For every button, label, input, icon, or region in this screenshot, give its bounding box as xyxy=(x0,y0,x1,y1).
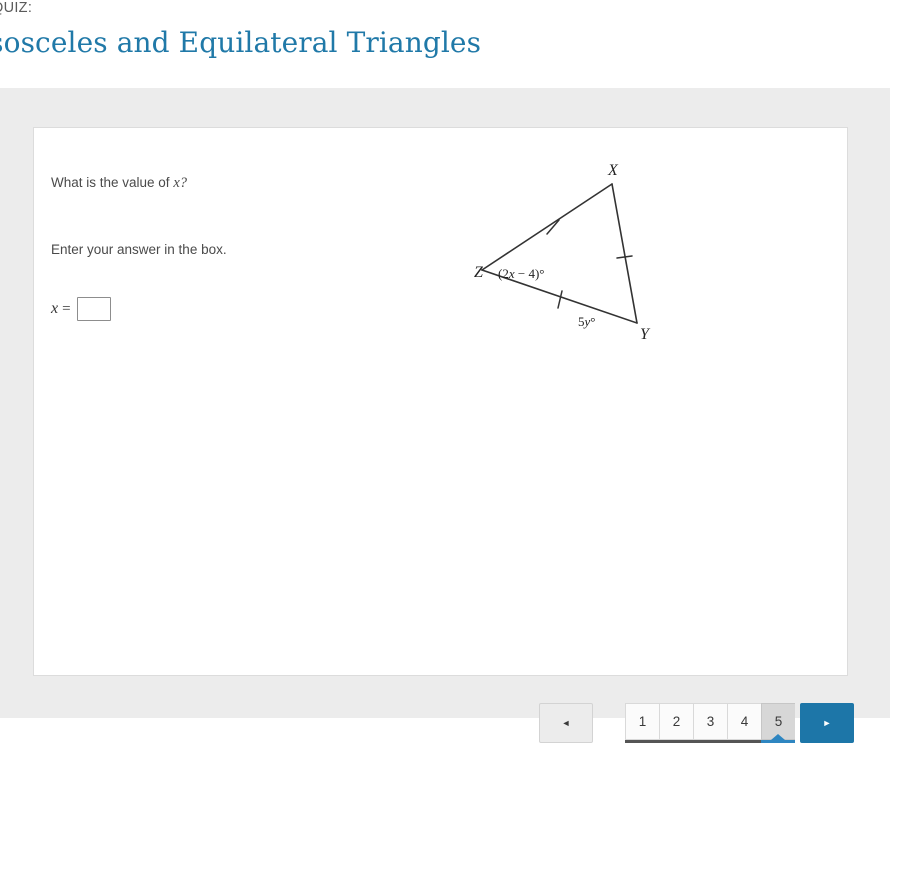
triangle-left-icon: ◄ xyxy=(562,718,571,728)
triangle-right-icon: ► xyxy=(823,718,832,728)
triangle-side-zx xyxy=(482,184,612,270)
active-page-indicator xyxy=(761,740,795,743)
answer-equals-sign: = xyxy=(62,301,70,318)
question-prompt-prefix: What is the value of xyxy=(51,175,173,190)
question-prompt: What is the value of x? xyxy=(51,175,187,192)
page-title: Isosceles and Equilateral Triangles xyxy=(0,26,481,59)
angle-label-z: (2x − 4)° xyxy=(498,266,544,281)
angle-label-y-suffix: ° xyxy=(590,314,595,329)
question-card: What is the value of x? Enter your answe… xyxy=(33,127,848,676)
answer-instruction: Enter your answer in the box. xyxy=(51,242,227,257)
congruence-tick-marks xyxy=(547,220,632,308)
answer-input[interactable] xyxy=(77,297,111,321)
question-prompt-suffix: ? xyxy=(180,175,187,191)
triangle-side-xy xyxy=(612,184,637,323)
vertex-label-x: X xyxy=(607,162,619,179)
page-header: QUIZ: Isosceles and Equilateral Triangle… xyxy=(0,0,903,88)
angle-label-y: 5y° xyxy=(578,314,595,329)
page-number-4[interactable]: 4 xyxy=(727,703,761,740)
previous-page-button[interactable]: ◄ xyxy=(539,703,593,743)
angle-label-z-prefix: (2 xyxy=(498,266,509,281)
page-number-3[interactable]: 3 xyxy=(693,703,727,740)
angle-label-z-suffix: − 4)° xyxy=(515,266,545,281)
pagination: ◄ 1 2 3 4 5 ► xyxy=(539,703,854,745)
answer-variable-label: x xyxy=(51,300,58,318)
vertex-label-y: Y xyxy=(640,326,651,343)
page-number-1[interactable]: 1 xyxy=(625,703,659,740)
triangle-diagram: X Y Z (2x − 4)° 5y° xyxy=(432,156,662,366)
tick-mark-zy xyxy=(558,291,562,308)
next-page-button[interactable]: ► xyxy=(800,703,854,743)
answer-row: x = xyxy=(51,296,111,322)
page-number-list: 1 2 3 4 5 xyxy=(625,703,795,743)
page-number-2[interactable]: 2 xyxy=(659,703,693,740)
content-band: What is the value of x? Enter your answe… xyxy=(0,88,890,718)
tick-mark-xy xyxy=(617,256,632,258)
quiz-eyebrow-label: QUIZ: xyxy=(0,0,32,16)
vertex-label-z: Z xyxy=(474,264,484,281)
